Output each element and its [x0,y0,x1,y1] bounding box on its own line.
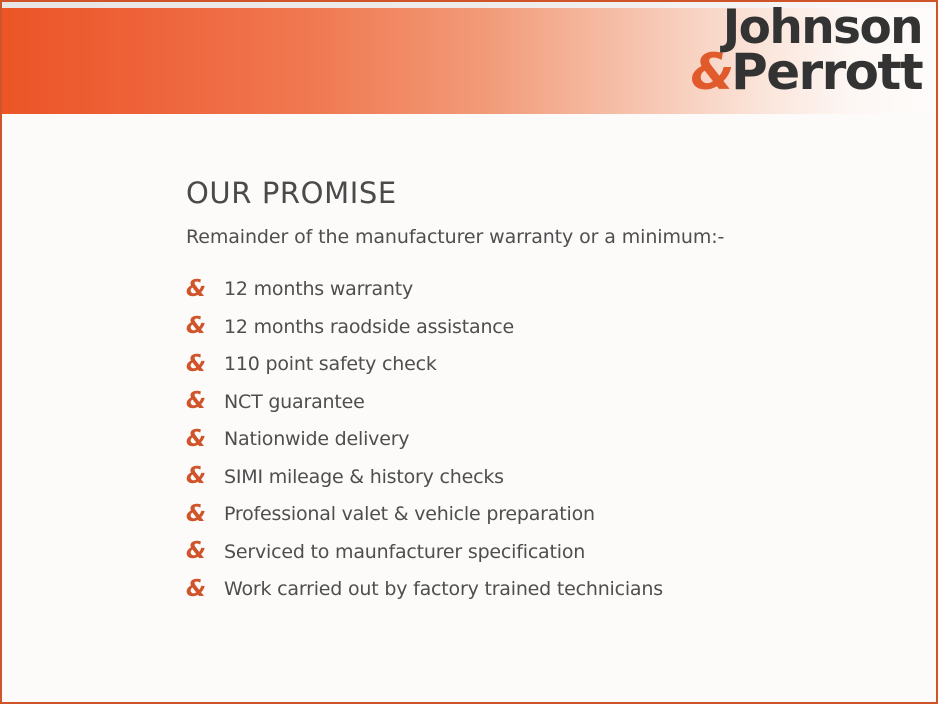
list-item-label: 12 months raodside assistance [224,316,514,338]
ampersand-icon: & [691,43,732,101]
list-item: & Work carried out by factory trained te… [186,571,916,609]
list-item-label: 12 months warranty [224,278,413,300]
promise-page: Johnson &Perrott OUR PROMISE Remainder o… [0,0,938,704]
ampersand-bullet-icon: & [186,278,224,301]
ampersand-bullet-icon: & [186,315,224,338]
list-item-label: 110 point safety check [224,353,437,375]
list-item: & Professional valet & vehicle preparati… [186,496,916,534]
promise-content: OUR PROMISE Remainder of the manufacture… [186,178,916,608]
list-item-label: Serviced to maunfacturer specification [224,541,585,563]
list-item: & Serviced to maunfacturer specification [186,533,916,571]
list-item-label: Professional valet & vehicle preparation [224,503,595,525]
promise-list: & 12 months warranty & 12 months raodsid… [186,271,916,609]
list-item: & 12 months warranty [186,271,916,309]
ampersand-bullet-icon: & [186,578,224,601]
ampersand-bullet-icon: & [186,465,224,488]
list-item: & Nationwide delivery [186,421,916,459]
list-item: & 12 months raodside assistance [186,308,916,346]
ampersand-bullet-icon: & [186,390,224,413]
ampersand-bullet-icon: & [186,540,224,563]
list-item-label: SIMI mileage & history checks [224,466,504,488]
ampersand-bullet-icon: & [186,503,224,526]
page-title: OUR PROMISE [186,178,916,210]
list-item: & 110 point safety check [186,346,916,384]
ampersand-bullet-icon: & [186,428,224,451]
list-item-label: Work carried out by factory trained tech… [224,578,663,600]
list-item: & SIMI mileage & history checks [186,458,916,496]
logo-word-perrott: Perrott [731,43,922,101]
brand-logo[interactable]: Johnson &Perrott [691,6,922,95]
promise-subtitle: Remainder of the manufacturer warranty o… [186,226,916,249]
list-item-label: Nationwide delivery [224,428,409,450]
ampersand-bullet-icon: & [186,353,224,376]
list-item: & NCT guarantee [186,383,916,421]
list-item-label: NCT guarantee [224,391,365,413]
site-header: Johnson &Perrott [2,2,936,114]
logo-line-perrott: &Perrott [691,49,922,95]
